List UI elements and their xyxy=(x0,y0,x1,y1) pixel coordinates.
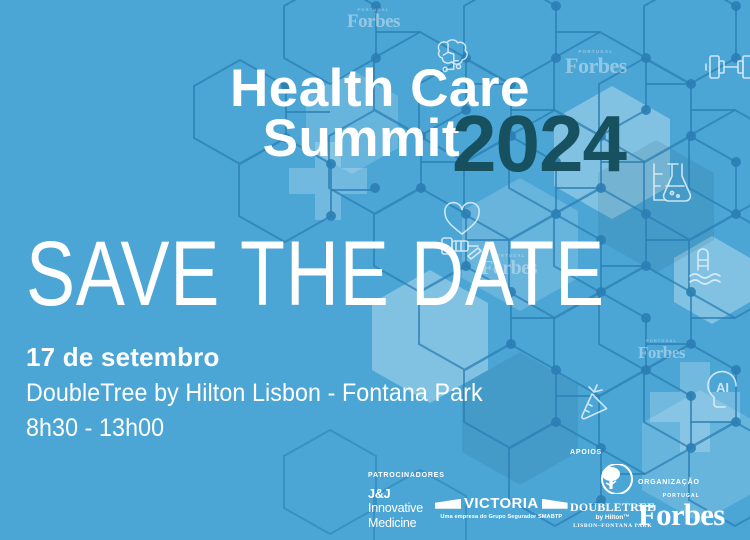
jnj-line-2: Innovative xyxy=(368,501,423,516)
doubletree-tree-icon xyxy=(593,464,633,494)
event-details: 17 de setembro DoubleTree by Hilton Lisb… xyxy=(26,340,517,447)
sponsor-logo-forbes: PORTUGAL Forbes xyxy=(638,494,724,530)
victoria-wordmark: VICTORIA xyxy=(464,496,539,511)
poster-canvas: AI PORTUGAL Forbes PORTUGAL Forbes PORTU… xyxy=(0,0,750,540)
svg-text:AI: AI xyxy=(716,380,729,395)
event-date: 17 de setembro xyxy=(26,340,517,376)
sponsors-footer: PATROCINADORES J&J Innovative Medicine V… xyxy=(0,452,750,540)
sponsor-group-label: PATROCINADORES xyxy=(368,472,568,479)
sponsor-group-organizacao: ORGANIZAÇÃO PORTUGAL Forbes xyxy=(638,479,724,530)
sponsor-group-patrocinadores: PATROCINADORES J&J Innovative Medicine V… xyxy=(368,472,568,531)
victoria-tagline: Uma empresa do Grupo Segurador SMABTP xyxy=(435,514,568,520)
sponsor-group-label: ORGANIZAÇÃO xyxy=(638,479,724,486)
sponsor-logo-victoria: VICTORIA Uma empresa do Grupo Segurador … xyxy=(435,496,568,520)
event-time: 8h30 - 13h00 xyxy=(26,411,483,447)
jnj-line-3: Medicine xyxy=(368,516,423,531)
sponsor-logo-jnj: J&J Innovative Medicine xyxy=(368,487,423,531)
sponsor-group-label: APOIOS xyxy=(570,449,655,456)
save-the-date-headline: SAVE THE DATE xyxy=(26,228,605,320)
jnj-line-1: J&J xyxy=(368,487,423,502)
victoria-bar-right-icon xyxy=(542,499,568,509)
victoria-bar-left-icon xyxy=(435,499,461,509)
forbes-wordmark: Forbes xyxy=(638,499,724,530)
event-venue: DoubleTree by Hilton Lisbon - Fontana Pa… xyxy=(26,376,483,412)
